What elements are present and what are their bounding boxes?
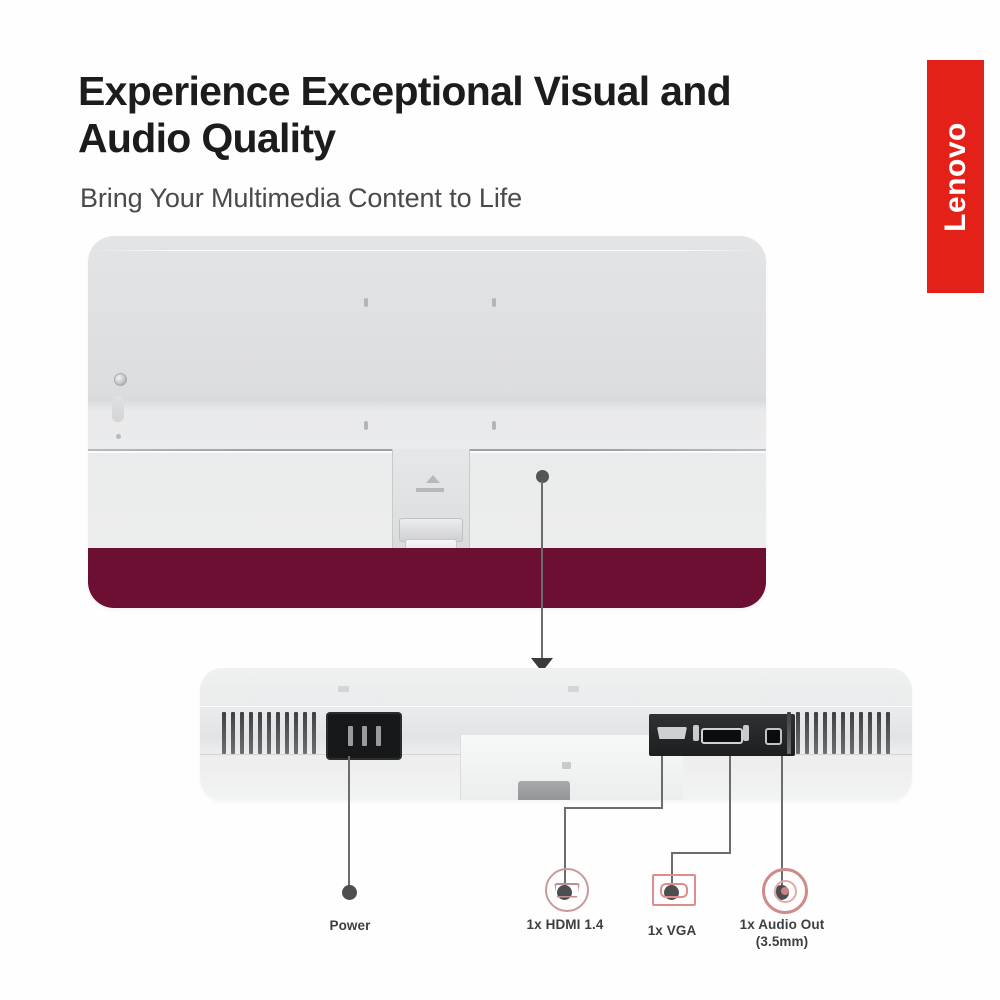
vent-slat: [240, 712, 244, 754]
monitor-rear-view: [88, 236, 766, 608]
power-button-icon: [114, 373, 127, 386]
callout-leader-line: [541, 481, 543, 661]
shell-seam-top: [88, 250, 766, 251]
hdmi-port: [657, 727, 687, 739]
vga-leader-line-b: [671, 852, 731, 854]
vent-slat: [832, 712, 836, 754]
vga-leader-line-a: [729, 756, 731, 854]
hdmi-leader-line-a: [661, 756, 663, 809]
video-port-cluster: [649, 714, 795, 756]
vent-slat: [222, 712, 226, 754]
page-title: Experience Exceptional Visual and Audio …: [78, 68, 818, 161]
vent-group-right: [787, 712, 890, 754]
stand-release-arrow-icon: [426, 475, 440, 483]
hdmi-icon-port: [554, 883, 580, 898]
vga-icon-frame: [652, 874, 696, 906]
vent-slat: [886, 712, 890, 754]
audio-out-icon: [762, 868, 802, 908]
monitor-io-panel: [200, 668, 912, 800]
vga-screw-post: [743, 725, 749, 741]
side-screw-icon: [116, 434, 121, 439]
io-screw-icon: [338, 686, 349, 692]
vent-slat: [787, 712, 791, 754]
vent-slat: [796, 712, 800, 754]
marketing-graphic: Experience Exceptional Visual and Audio …: [0, 0, 1000, 1000]
vent-slat: [841, 712, 845, 754]
audio-icon-center: [781, 887, 789, 895]
connector-power: Power: [275, 918, 425, 935]
vent-slat: [249, 712, 253, 754]
io-screw-icon: [568, 686, 579, 692]
audio-out-port: [765, 728, 782, 745]
vent-slat: [850, 712, 854, 754]
monitor-base-band: [88, 548, 766, 608]
vga-icon: [652, 874, 692, 914]
lenovo-logo-badge: Lenovo: [927, 60, 984, 293]
vent-slat: [814, 712, 818, 754]
side-vent-detail: [112, 396, 124, 422]
vent-slat: [868, 712, 872, 754]
hdmi-icon: [545, 868, 585, 908]
vent-slat: [258, 712, 262, 754]
connector-audio-out-label-line1: 1x Audio Out: [707, 917, 857, 934]
cable-cover-tab: [518, 781, 570, 800]
vesa-screw-icon: [492, 298, 496, 307]
vent-slat: [805, 712, 809, 754]
power-port: [326, 712, 402, 760]
vent-slat: [303, 712, 307, 754]
stand-release-bar: [416, 488, 444, 492]
vent-slat: [312, 712, 316, 754]
vent-slat: [267, 712, 271, 754]
connector-power-label: Power: [275, 918, 425, 935]
vent-slat: [285, 712, 289, 754]
connector-audio-out: 1x Audio Out (3.5mm): [707, 868, 857, 951]
vent-slat: [231, 712, 235, 754]
vent-slat: [294, 712, 298, 754]
vesa-screw-icon: [492, 421, 496, 430]
vent-slat: [877, 712, 881, 754]
io-marking: [562, 762, 571, 769]
vga-screw-post: [693, 725, 699, 741]
power-leader-line: [348, 756, 350, 888]
power-leader-dot: [342, 885, 357, 900]
power-pin: [362, 726, 367, 746]
vga-port: [701, 728, 743, 744]
page-subtitle: Bring Your Multimedia Content to Life: [80, 183, 840, 214]
vent-group-left: [222, 712, 316, 754]
io-panel-seam: [200, 706, 912, 707]
vesa-screw-icon: [364, 421, 368, 430]
power-pin: [376, 726, 381, 746]
connector-audio-out-label-line2: (3.5mm): [707, 934, 857, 951]
lenovo-wordmark: Lenovo: [939, 122, 973, 232]
vent-slat: [276, 712, 280, 754]
power-pin: [348, 726, 353, 746]
hdmi-icon-ring: [545, 868, 589, 912]
vent-slat: [823, 712, 827, 754]
vga-icon-port: [660, 883, 688, 898]
vent-slat: [859, 712, 863, 754]
audio-icon-inner-ring: [774, 880, 797, 903]
audio-icon-outer-ring: [762, 868, 808, 914]
vesa-screw-icon: [364, 298, 368, 307]
hdmi-leader-line-b: [564, 807, 663, 809]
